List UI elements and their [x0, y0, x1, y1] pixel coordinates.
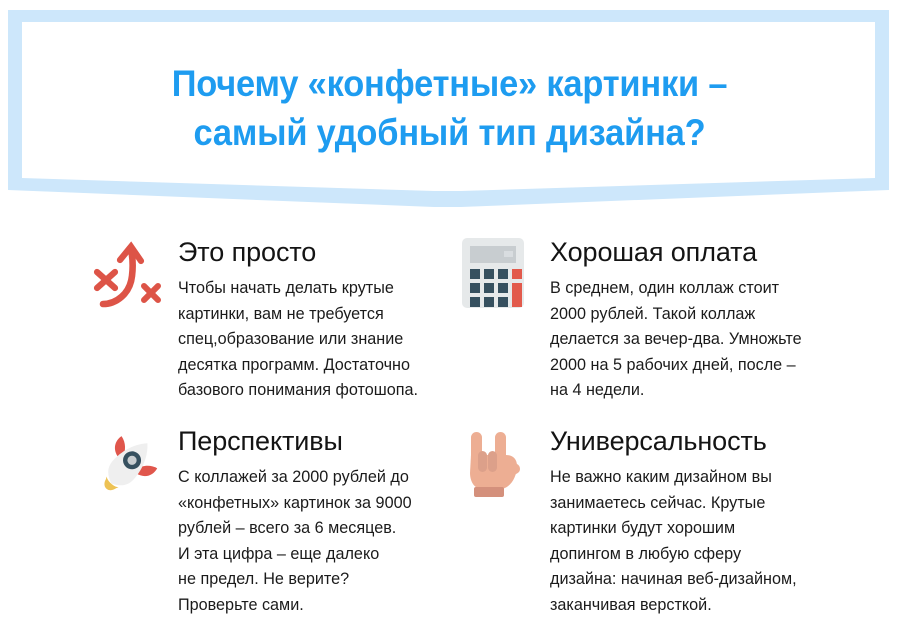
benefit-text-group: Хорошая оплата В среднем, один коллаж ст…: [550, 236, 802, 404]
benefit-text-group: Универсальность Не важно каким дизайном …: [550, 425, 797, 618]
rock-on-hand-icon: [462, 429, 540, 507]
curved-arrow-with-crosses-icon: [90, 240, 168, 318]
benefit-heading: Хорошая оплата: [550, 236, 802, 268]
benefit-heading: Универсальность: [550, 425, 797, 457]
benefit-heading: Это просто: [178, 236, 418, 268]
benefit-text-group: Перспективы С коллажей за 2000 рублей до…: [178, 425, 412, 618]
calculator-icon: [462, 238, 540, 316]
page-title: Почему «конфетные» картинки – самый удоб…: [59, 59, 839, 157]
benefit-block-prospects: Перспективы С коллажей за 2000 рублей до…: [88, 425, 428, 618]
benefit-text-group: Это просто Чтобы начать делать крутые ка…: [178, 236, 418, 404]
benefit-description: Чтобы начать делать крутые картинки, вам…: [178, 276, 418, 404]
benefit-description: Не важно каким дизайном вы занимаетесь с…: [550, 465, 797, 618]
benefit-block-universality: Универсальность Не важно каким дизайном …: [458, 425, 803, 618]
benefit-block-simple: Это просто Чтобы начать делать крутые ка…: [88, 236, 428, 404]
rocket-icon: [90, 431, 168, 509]
benefit-block-payment: Хорошая оплата В среднем, один коллаж ст…: [458, 236, 803, 404]
benefit-description: С коллажей за 2000 рублей до «конфетных»…: [178, 465, 412, 618]
header-banner: Почему «конфетные» картинки – самый удоб…: [0, 0, 899, 212]
benefit-description: В среднем, один коллаж стоит 2000 рублей…: [550, 276, 802, 404]
benefit-heading: Перспективы: [178, 425, 412, 457]
benefits-grid: Это просто Чтобы начать делать крутые ка…: [0, 212, 899, 617]
